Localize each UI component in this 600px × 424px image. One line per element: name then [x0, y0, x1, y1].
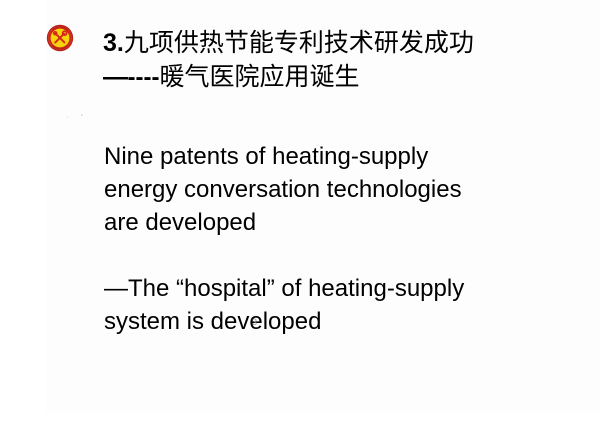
presentation-slide: 3.九项供热节能专利技术研发成功 —----暖气医院应用诞生 · ˞ Nine …	[0, 0, 600, 424]
slide-body: Nine patents of heating-supply energy co…	[104, 140, 584, 338]
body-paragraph-2-line-2: system is developed	[104, 305, 584, 338]
body-paragraph-2-line-1: —The “hospital” of heating-supply	[104, 272, 584, 305]
body-paragraph-1-line-3: are developed	[104, 206, 584, 239]
title-number: 3.	[103, 29, 124, 57]
body-paragraph-1-line-2: energy conversation technologies	[104, 173, 584, 206]
slide-title: 3.九项供热节能专利技术研发成功 —----暖气医院应用诞生	[103, 26, 573, 95]
company-emblem-logo	[46, 24, 74, 52]
stray-tick-artifact: ˞	[81, 112, 83, 119]
stray-dot-artifact: ·	[66, 114, 68, 121]
title-line-2-text: 暖气医院应用诞生	[159, 63, 359, 91]
title-em-dash: —	[103, 63, 128, 91]
stray-digit-artifact: 3	[252, 318, 257, 327]
title-hyphen-run: ----	[128, 64, 160, 91]
body-paragraph-1-line-1: Nine patents of heating-supply	[104, 140, 584, 173]
title-line-1-text: 九项供热节能专利技术研发成功	[124, 29, 474, 57]
body-paragraph-spacer	[104, 239, 584, 272]
title-line-1: 3.九项供热节能专利技术研发成功	[103, 26, 573, 60]
title-line-2: —----暖气医院应用诞生	[103, 60, 573, 95]
